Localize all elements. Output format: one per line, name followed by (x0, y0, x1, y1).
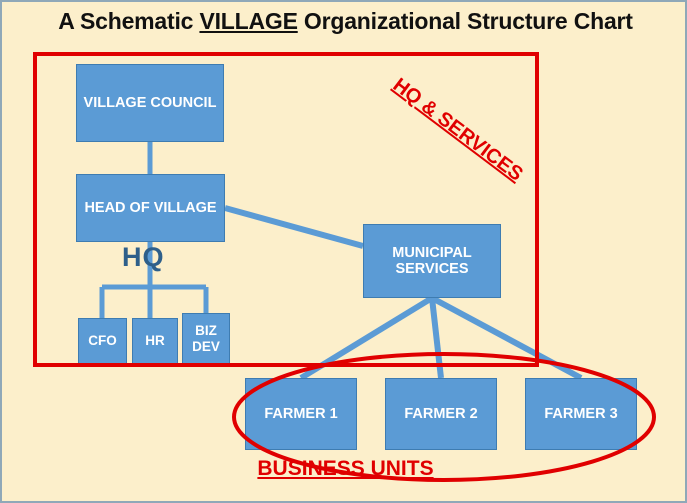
org-chart-canvas: A Schematic VILLAGE Organizational Struc… (0, 0, 687, 503)
business-units-label: BUSINESS UNITS (2, 457, 687, 481)
annotation-layer (2, 2, 687, 503)
hq-services-group-rectangle (35, 54, 537, 365)
